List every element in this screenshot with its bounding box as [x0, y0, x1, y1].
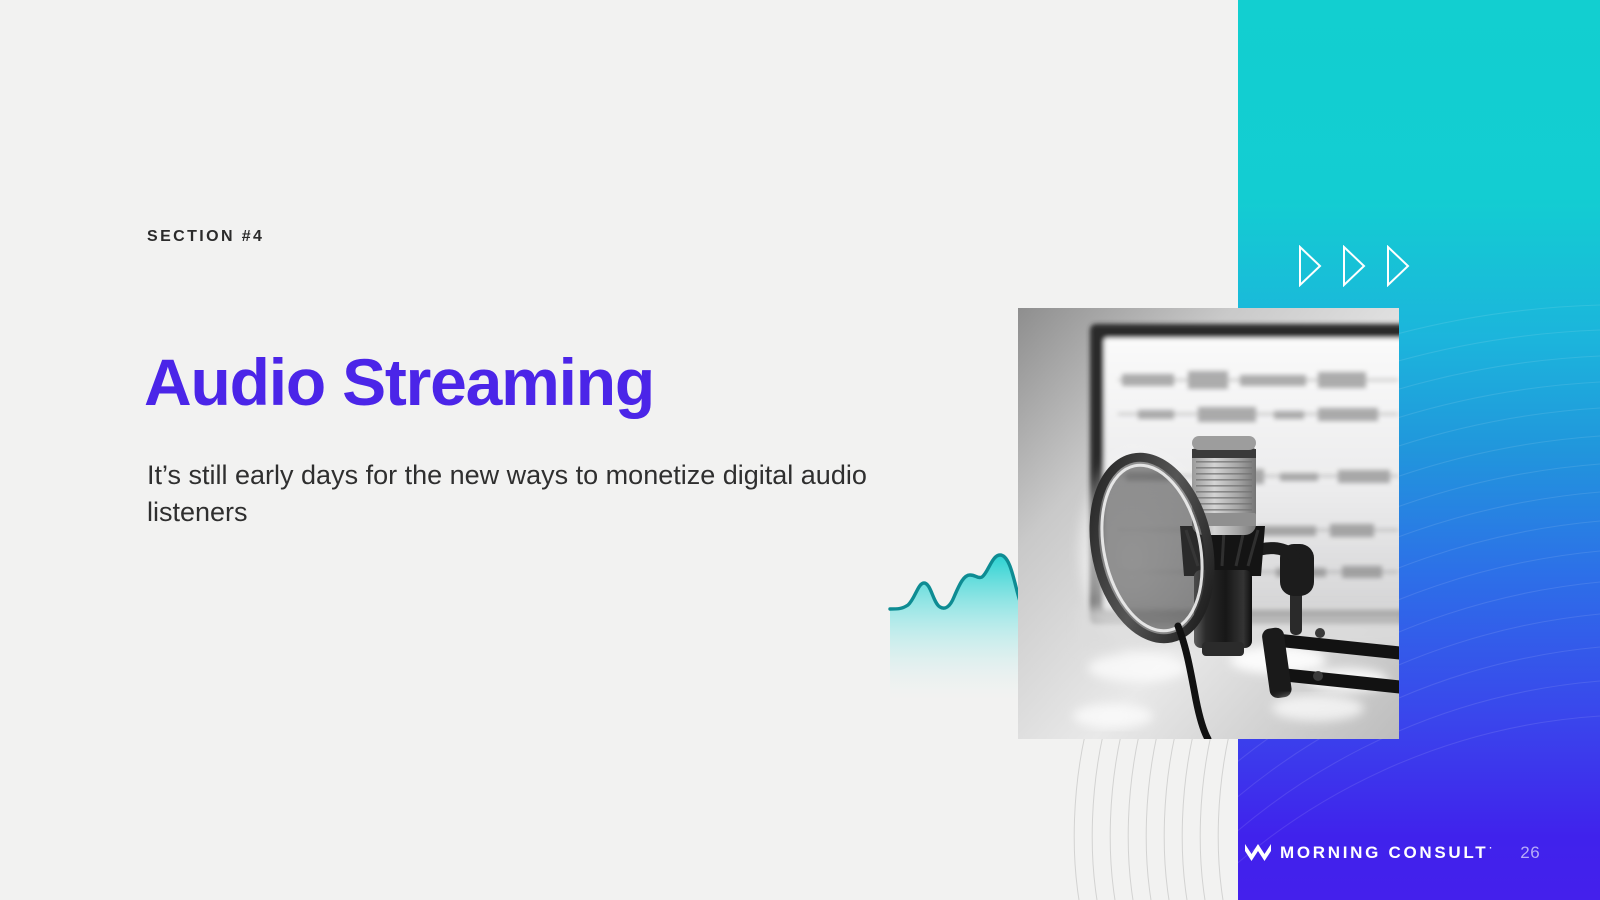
footer-brand-bar: MORNING CONSULT· 26 [1245, 842, 1540, 864]
brand-wordmark-text: MORNING CONSULT [1280, 843, 1488, 862]
trademark-mark: · [1489, 843, 1492, 853]
play-icon-row [1298, 245, 1410, 287]
section-eyebrow-label: SECTION #4 [147, 228, 264, 246]
play-triangle-icon-1 [1298, 245, 1322, 287]
arc-lines-left-decoration [1065, 735, 1245, 900]
slide-root: SECTION #4 Audio Streaming It’s still ea… [0, 0, 1600, 900]
brand-wordmark: MORNING CONSULT· [1280, 843, 1492, 863]
slide-subheading: It’s still early days for the new ways t… [147, 457, 877, 530]
play-triangle-icon-3 [1386, 245, 1410, 287]
page-title: Audio Streaming [144, 346, 654, 419]
play-triangle-icon-2 [1342, 245, 1366, 287]
morning-consult-chevron-m-icon [1245, 842, 1271, 864]
studio-microphone-photo [1018, 308, 1399, 739]
page-number: 26 [1520, 843, 1540, 863]
morning-consult-logo: MORNING CONSULT· [1245, 842, 1492, 864]
